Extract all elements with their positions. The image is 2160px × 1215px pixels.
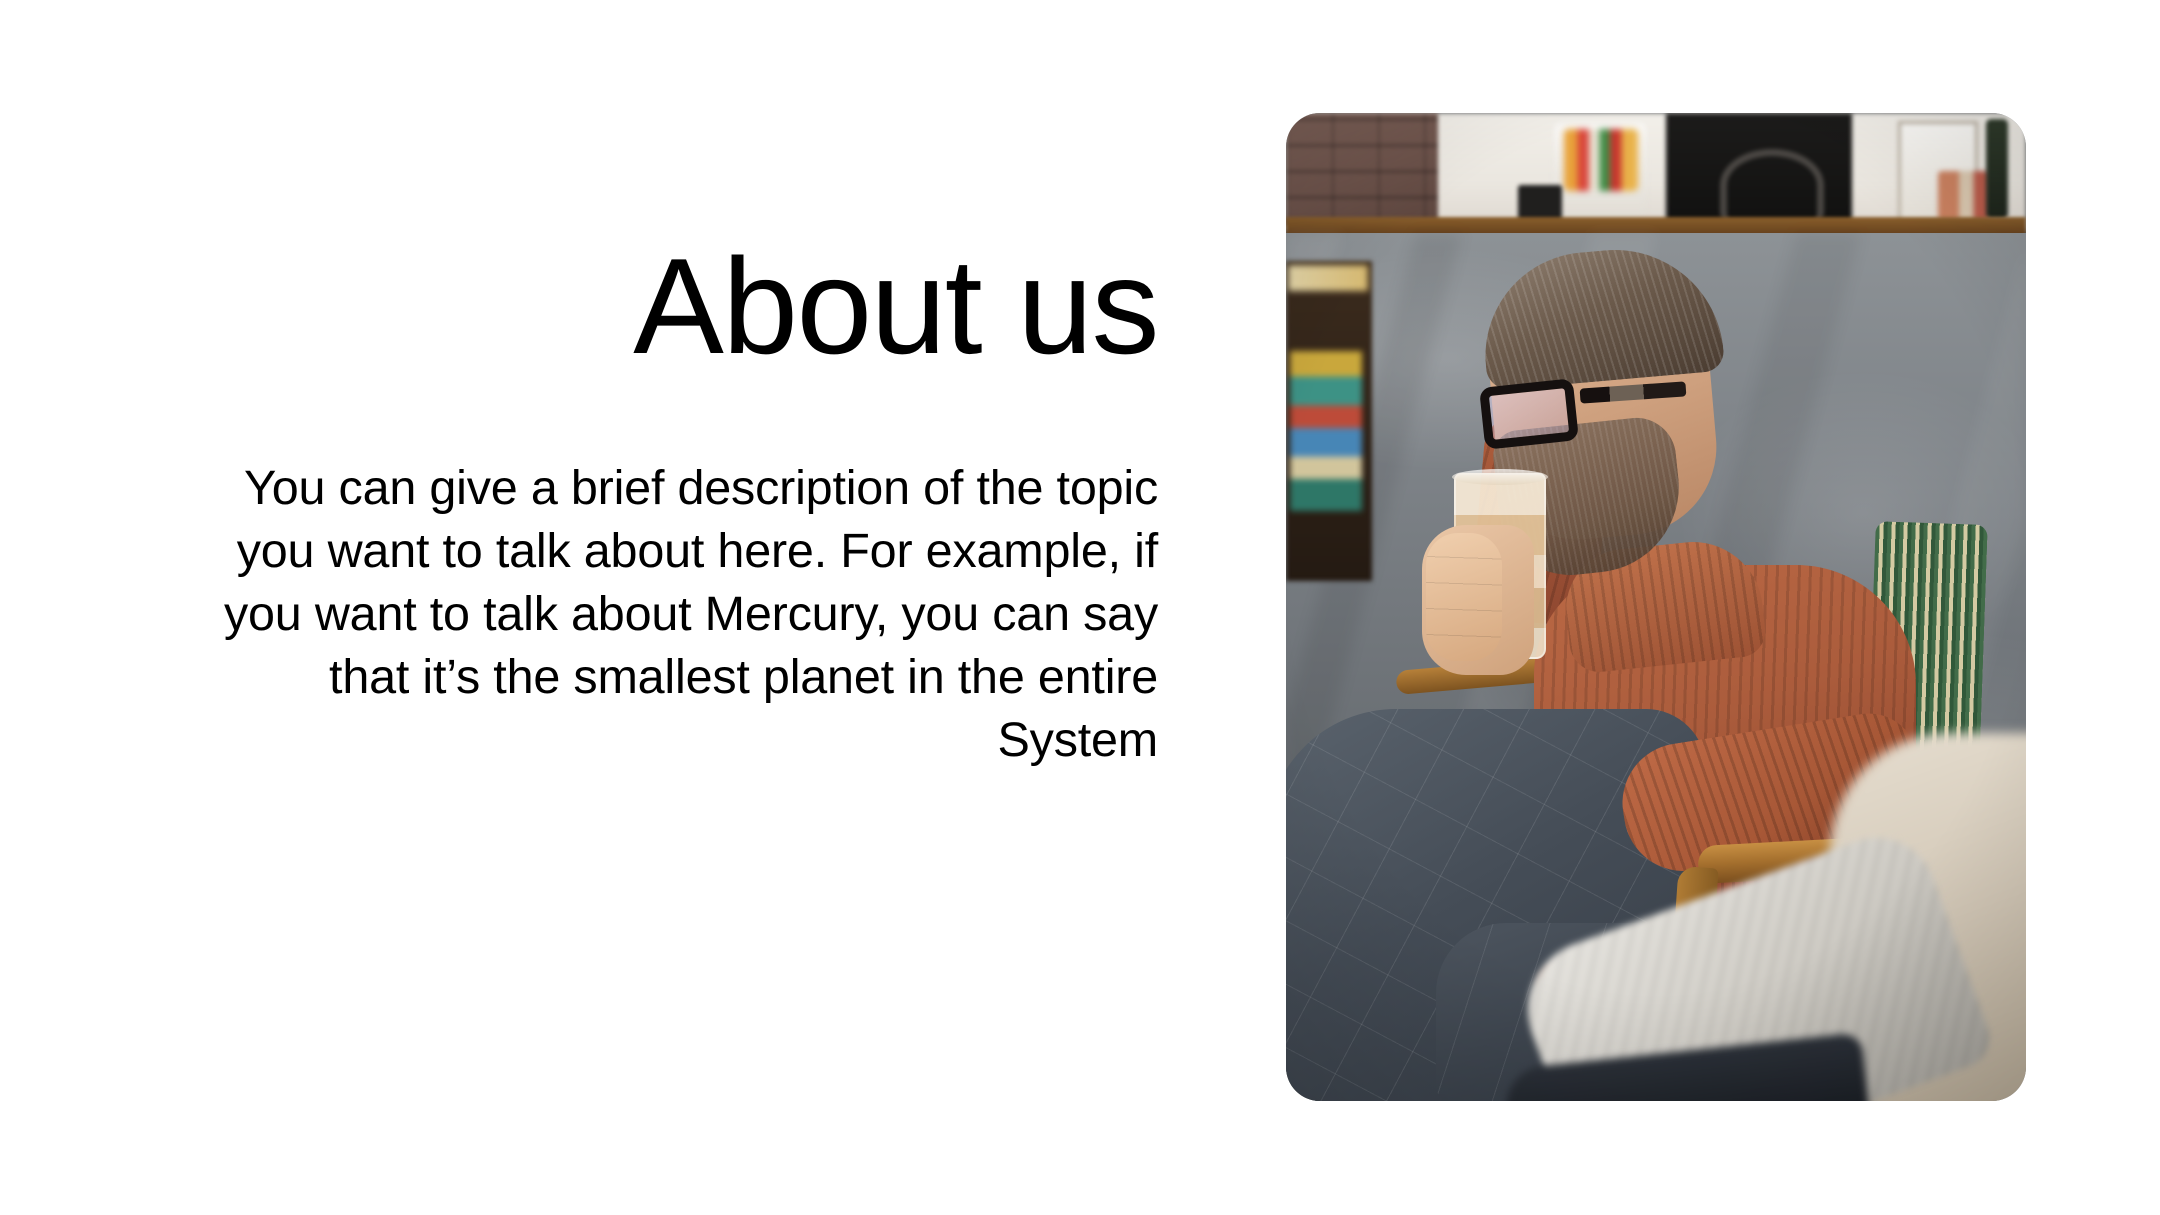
eyeglasses-lens (1479, 378, 1579, 449)
shelf-jar-contents (1564, 129, 1638, 191)
slide-body-text: You can give a brief description of the … (180, 457, 1158, 772)
background-brick-wall (1286, 113, 1438, 225)
page-title: About us (180, 230, 1158, 382)
shelf-bottle (1986, 119, 2008, 219)
latte-glass-rim (1452, 469, 1548, 485)
photo-frame (1286, 113, 2026, 1101)
shelf-warm-light (1288, 265, 1368, 291)
shelf-colorful-books (1290, 351, 1362, 511)
slide-canvas: About us You can give a brief descriptio… (0, 0, 2160, 1215)
shelf-small-jars (1938, 171, 1990, 221)
man-fingers (1426, 533, 1502, 661)
shelf-appliance-handle (1720, 149, 1824, 222)
text-column: About us You can give a brief descriptio… (180, 230, 1158, 772)
cafe-photo-image (1286, 113, 2026, 1101)
